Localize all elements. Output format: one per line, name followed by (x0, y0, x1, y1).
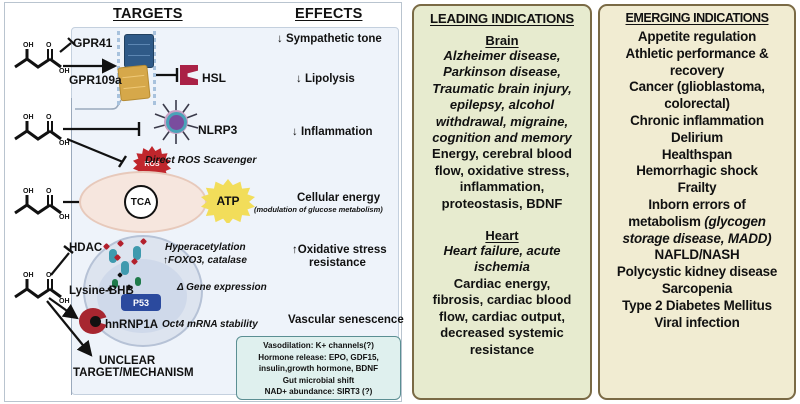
indication-line: Alzheimer disease, (418, 48, 586, 64)
indication-line: Sarcopenia (604, 281, 790, 298)
indication-line: decreased systemic (418, 325, 586, 341)
indication-line: inflammation, (418, 179, 586, 195)
indication-line: epilepsy, alcohol (418, 97, 586, 113)
indication-line: Appetite regulation (604, 29, 790, 46)
indication-section-heading: Heart (418, 228, 586, 243)
indication-line: Energy, cerebral blood (418, 146, 586, 162)
indication-line: Traumatic brain injury, (418, 81, 586, 97)
effect-oxidative-stress-resistance-1: ↑Oxidative stress (292, 244, 387, 256)
indication-line: Athletic performance & (604, 46, 790, 63)
inset-line: Vasodilation: K+ channels(?) (239, 340, 398, 352)
indication-line: flow, cardiac output, (418, 309, 586, 325)
indication-line: colorectal) (604, 96, 790, 113)
effect-inflammation: ↓ Inflammation (292, 126, 373, 138)
bhb-mark-icon (135, 277, 141, 286)
indication-line: Type 2 Diabetes Mellitus (604, 298, 790, 315)
indication-line: cognition and memory (418, 130, 586, 146)
mechanism-panel: TARGETS EFFECTS OH O OH OH O OH (4, 2, 402, 402)
inset-line: Gut microbial shift (239, 375, 398, 387)
label-unclear-target-1: UNCLEAR (99, 355, 155, 367)
section-gap (418, 212, 586, 221)
indication-section-heading: Brain (418, 33, 586, 48)
label-gpr41: GPR41 (73, 36, 112, 50)
indication-line: Chronic inflammation (604, 113, 790, 130)
hnrnp1a-ligand-icon (90, 316, 101, 327)
indication-line: flow, oxidative stress, (418, 163, 586, 179)
label-hdac: HDAC (69, 242, 102, 254)
effect-cellular-energy-note: (modulation of glucose metabolism) (254, 205, 383, 214)
inset-line: NAD+ abundance: SIRT3 (?) (239, 386, 398, 398)
label-gpr109a: GPR109a (69, 73, 122, 87)
label-oct4-mrna: Oct4 mRNA stability (162, 319, 258, 330)
indication-line: Viral infection (604, 315, 790, 332)
emerging-indications-panel: EMERGING INDICATIONS Appetite regulation… (598, 4, 796, 400)
leading-indications-body: BrainAlzheimer disease,Parkinson disease… (418, 33, 586, 358)
indication-line: metabolism (glycogen (604, 214, 790, 231)
inset-line: Hormone release: EPO, GDF15, (239, 352, 398, 364)
emerging-indications-body: Appetite regulationAthletic performance … (604, 29, 790, 331)
label-hyperacetylation: Hyperacetylation (165, 242, 246, 253)
emerging-indications-title: EMERGING INDICATIONS (604, 11, 790, 25)
indication-line: withdrawal, migraine, (418, 114, 586, 130)
tca-cycle-icon: TCA (124, 185, 158, 219)
gpr109a-receptor-icon (117, 65, 150, 102)
label-foxo3-catalase: ↑FOXO3, catalase (163, 255, 247, 266)
indication-line: storage disease, MADD) (604, 231, 790, 248)
label-hsl: HSL (202, 71, 226, 85)
nlrp3-core-icon (166, 112, 187, 133)
indication-line: Heart failure, acute (418, 243, 586, 259)
indication-line: recovery (604, 63, 790, 80)
gpr41-receptor-icon (124, 34, 154, 68)
label-gene-expression: Δ Gene expression (177, 282, 267, 293)
indication-line: Cancer (glioblastoma, (604, 79, 790, 96)
effect-vascular-senescence: Vascular senescence (288, 314, 404, 326)
indication-line: Inborn errors of (604, 197, 790, 214)
effect-lipolysis: ↓ Lipolysis (296, 73, 355, 85)
figure-root: TARGETS EFFECTS OH O OH OH O OH (0, 0, 800, 404)
effect-oxidative-stress-resistance-2: resistance (309, 257, 366, 269)
indication-line: Polycystic kidney disease (604, 264, 790, 281)
indication-line: NAFLD/NASH (604, 247, 790, 264)
label-unclear-target-2: TARGET/MECHANISM (73, 367, 194, 379)
leading-indications-title: LEADING INDICATIONS (418, 11, 586, 26)
other-mechanisms-box: Vasodilation: K+ channels(?) Hormone rel… (236, 336, 401, 400)
indication-line: resistance (418, 342, 586, 358)
histone-icon (121, 261, 129, 275)
label-nlrp3: NLRP3 (198, 123, 237, 137)
leading-indications-panel: LEADING INDICATIONS BrainAlzheimer disea… (412, 4, 592, 400)
inset-line: insulin,growth hormone, BDNF (239, 363, 398, 375)
indication-line: Parkinson disease, (418, 64, 586, 80)
indication-line: proteostasis, BDNF (418, 196, 586, 212)
indication-line: ischemia (418, 259, 586, 275)
effect-sympathetic-tone: ↓ Sympathetic tone (277, 33, 382, 45)
effect-cellular-energy: Cellular energy (297, 192, 380, 204)
label-lysine-bhb: Lysine-BHB (69, 285, 134, 297)
indication-line: Cardiac energy, (418, 276, 586, 292)
indication-line: Hemorrhagic shock (604, 163, 790, 180)
indication-line: Delirium (604, 130, 790, 147)
indication-line: Frailty (604, 180, 790, 197)
label-ros-scavenger: Direct ROS Scavenger (145, 154, 256, 166)
indication-line: fibrosis, cardiac blood (418, 292, 586, 308)
indication-line: Healthspan (604, 147, 790, 164)
label-hnrnp1a: hnRNP1A (105, 319, 158, 331)
